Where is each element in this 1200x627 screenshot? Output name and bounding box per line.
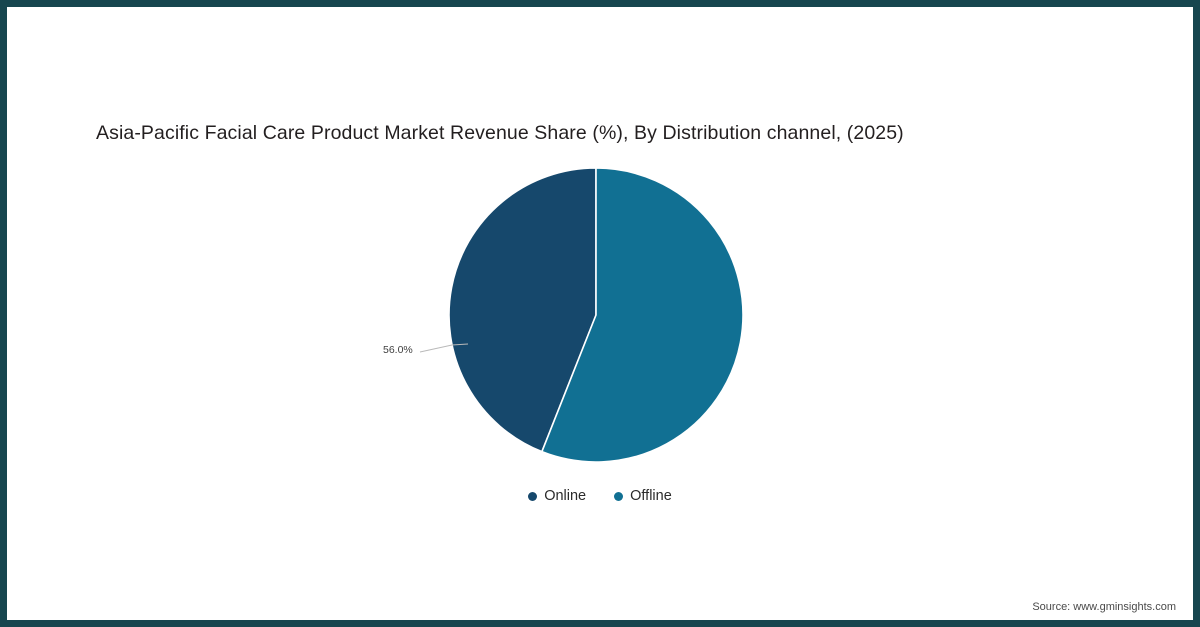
legend-marker-icon-online [528,492,537,501]
legend-label-offline: Offline [630,487,672,505]
legend: Online Offline [0,487,1200,505]
data-label-offline: 56.0% [383,344,413,356]
source-note: Source: www.gminsights.com [1032,601,1176,613]
chart-page: Asia-Pacific Facial Care Product Market … [0,0,1200,627]
frame-border-left [0,0,7,627]
legend-marker-icon-offline [614,492,623,501]
pie-slices [449,168,743,462]
legend-label-online: Online [544,487,586,505]
pie-chart-svg [0,0,1200,627]
pie-chart [0,0,1200,627]
legend-item-online[interactable]: Online [528,487,586,505]
legend-item-offline[interactable]: Offline [614,487,672,505]
frame-border-bottom [0,620,1200,627]
frame-border-top [0,0,1200,7]
page-title: Asia-Pacific Facial Care Product Market … [96,119,1116,147]
frame-border-right [1193,0,1200,627]
